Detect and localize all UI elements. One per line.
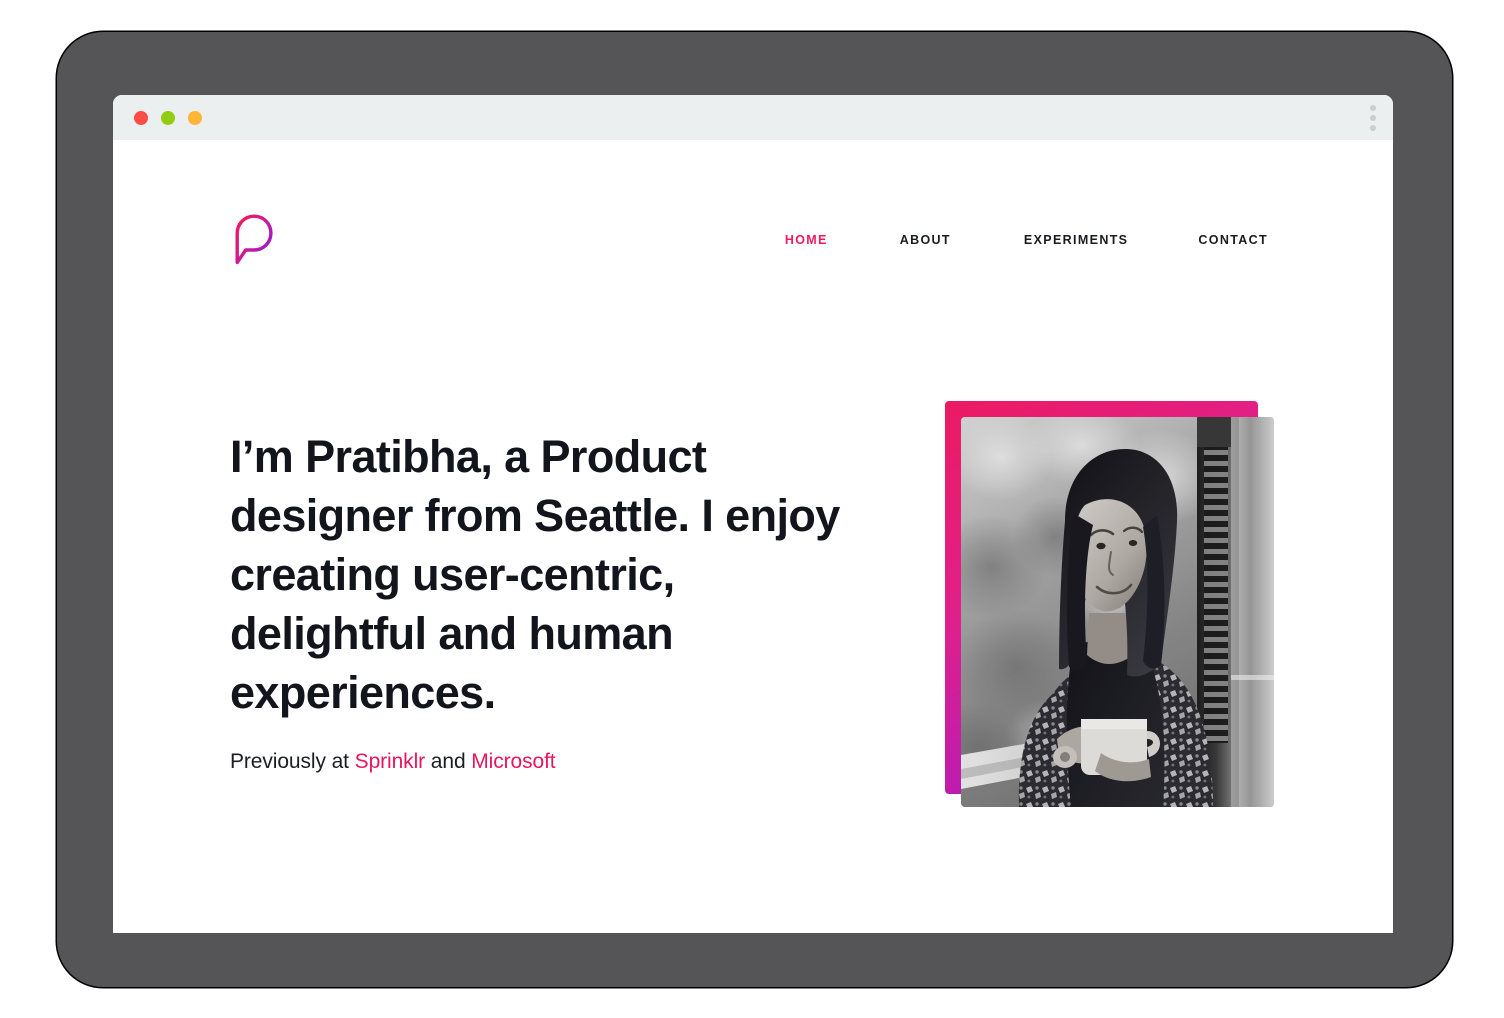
- dot-3: [1370, 125, 1376, 131]
- page-content: HOME ABOUT EXPERIMENTS CONTACT I’m Prati…: [113, 140, 1393, 933]
- maximize-window-button[interactable]: [188, 111, 202, 125]
- page-title: I’m Pratibha, a Product designer from Se…: [230, 427, 850, 722]
- dot-2: [1370, 115, 1376, 121]
- hero-section: I’m Pratibha, a Product designer from Se…: [113, 140, 1393, 933]
- close-window-button[interactable]: [134, 111, 148, 125]
- hero-copy: I’m Pratibha, a Product designer from Se…: [230, 427, 850, 777]
- link-microsoft[interactable]: Microsoft: [471, 750, 555, 773]
- subtitle-prefix: Previously at: [230, 750, 355, 773]
- hero-figure: [945, 401, 1305, 811]
- browser-window: HOME ABOUT EXPERIMENTS CONTACT I’m Prati…: [113, 95, 1393, 933]
- traffic-light-group: [134, 111, 202, 125]
- minimize-window-button[interactable]: [161, 111, 175, 125]
- hero-subtitle: Previously at Sprinklr and Microsoft: [230, 747, 850, 777]
- dot-1: [1370, 105, 1376, 111]
- subtitle-middle: and: [425, 750, 471, 773]
- link-sprinklr[interactable]: Sprinklr: [355, 750, 425, 773]
- browser-title-bar: [113, 95, 1393, 140]
- hero-portrait-photo: [961, 417, 1274, 807]
- vertical-dots-icon[interactable]: [1370, 105, 1376, 131]
